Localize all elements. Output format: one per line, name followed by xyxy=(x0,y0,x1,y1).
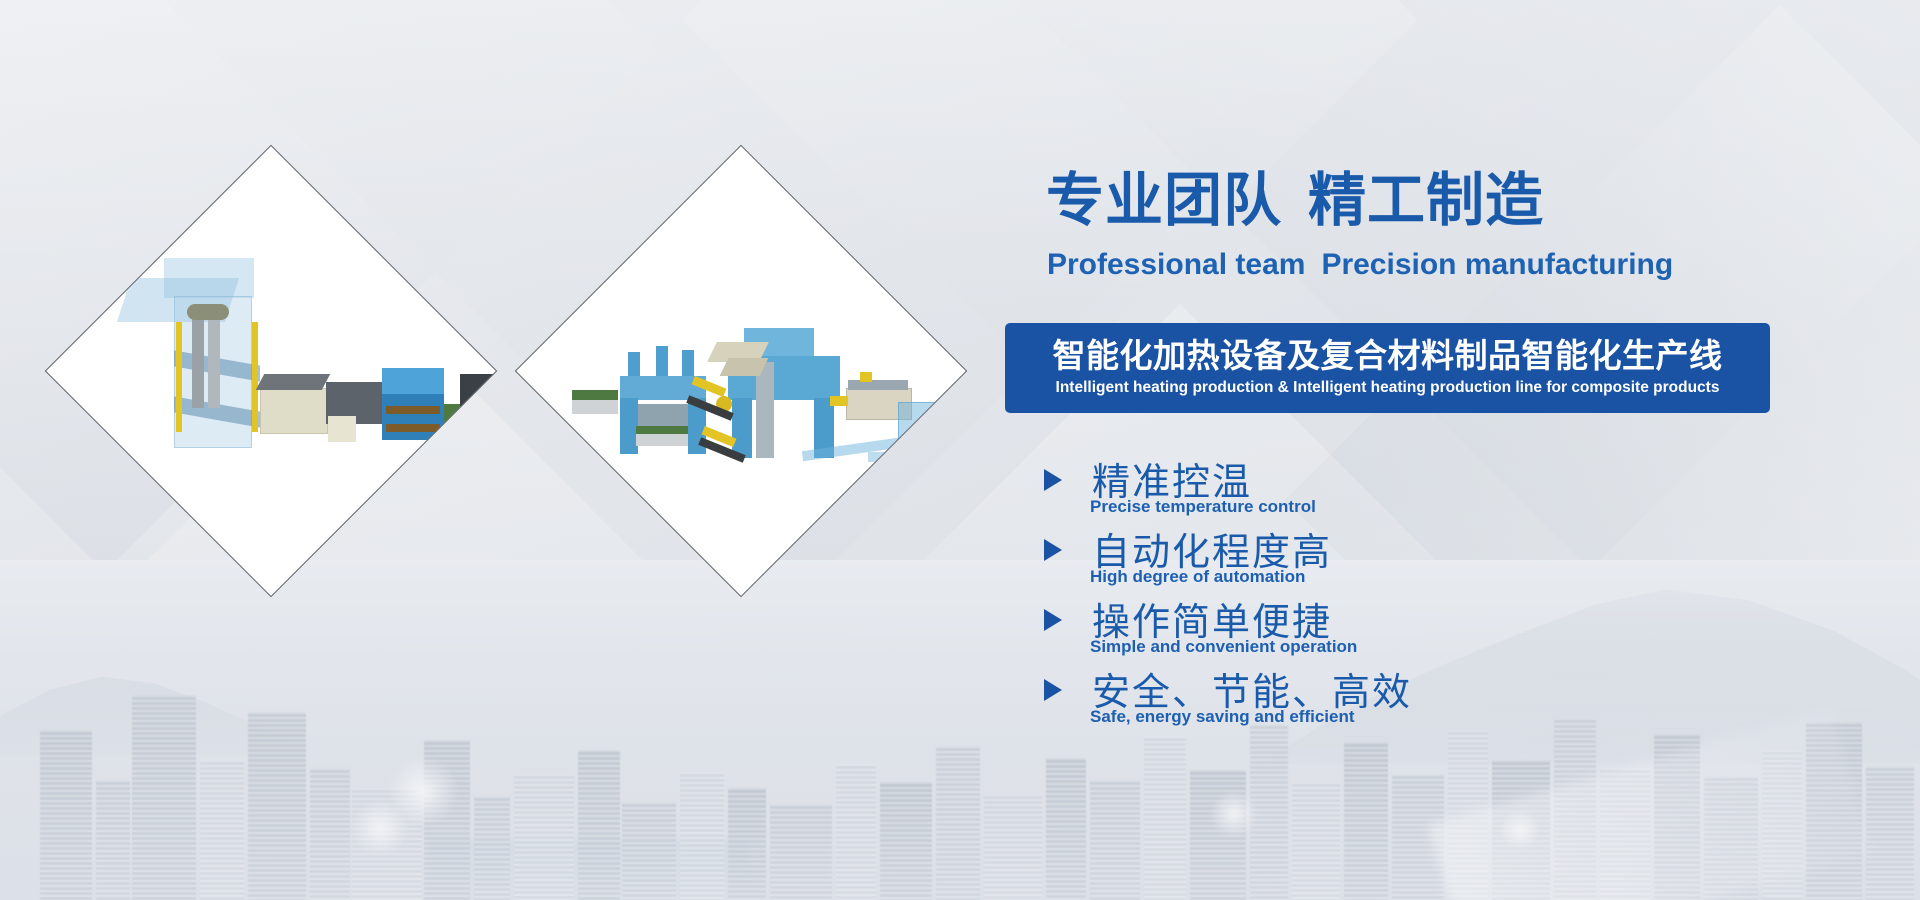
feature-item: 精准控温 Precise temperature control xyxy=(1038,455,1738,525)
machine-blue-unit xyxy=(382,394,444,440)
press2-leg xyxy=(732,398,752,458)
conveyor-frame xyxy=(572,400,618,414)
machine-piston xyxy=(192,314,204,408)
machine-shelf xyxy=(386,424,440,432)
machine-piston xyxy=(208,314,220,408)
feature-item: 操作简单便捷 Simple and convenient operation xyxy=(1038,595,1738,665)
machine-cabinet xyxy=(260,388,328,434)
marketing-banner: 专业团队精工制造 Professional teamPrecision manu… xyxy=(0,0,1920,900)
yellow-bracket xyxy=(860,372,872,382)
highlight-band: 智能化加热设备及复合材料制品智能化生产线 Intelligent heating… xyxy=(1005,323,1770,413)
page-subtitle: Professional teamPrecision manufacturing xyxy=(1047,250,1673,280)
triangle-right-icon xyxy=(1044,609,1062,631)
conveyor-frame xyxy=(636,434,688,446)
machine-shelf xyxy=(386,406,440,414)
feature-label-en: Precise temperature control xyxy=(1090,497,1316,517)
access-ladder xyxy=(756,362,774,458)
subtitle-en-part1: Professional team xyxy=(1047,248,1305,281)
highlight-band-cn: 智能化加热设备及复合材料制品智能化生产线 xyxy=(1053,339,1723,374)
headline-cn-part1: 专业团队 xyxy=(1046,168,1282,233)
feature-label-en: High degree of automation xyxy=(1090,567,1305,587)
headline-cn-part2: 精工制造 xyxy=(1308,168,1544,233)
feature-item: 安全、节能、高效 Safe, energy saving and efficie… xyxy=(1038,665,1738,735)
feature-list: 精准控温 Precise temperature control 自动化程度高 … xyxy=(1038,455,1738,735)
machine-control-box xyxy=(328,416,356,442)
winding-roller xyxy=(848,380,908,390)
yellow-bracket xyxy=(830,396,848,406)
feature-label-en: Simple and convenient operation xyxy=(1090,637,1357,657)
triangle-right-icon xyxy=(1044,469,1062,491)
page-title: 专业团队精工制造 xyxy=(1046,172,1544,230)
highlight-band-en: Intelligent heating production & Intelli… xyxy=(1056,379,1720,397)
machine-glass-top xyxy=(164,258,254,298)
triangle-right-icon xyxy=(1044,539,1062,561)
feature-item: 自动化程度高 High degree of automation xyxy=(1038,525,1738,595)
machine-guide-rail xyxy=(176,322,182,432)
subtitle-en-part2: Precision manufacturing xyxy=(1321,248,1673,281)
feature-label-en: Safe, energy saving and efficient xyxy=(1090,707,1355,727)
machine-cylinder-head xyxy=(187,304,229,320)
triangle-right-icon xyxy=(1044,679,1062,701)
machine-guide-rail xyxy=(252,322,258,432)
machine-blue-unit-top xyxy=(382,368,444,396)
machine-cabinet-top xyxy=(256,374,331,390)
press-post xyxy=(656,346,668,380)
